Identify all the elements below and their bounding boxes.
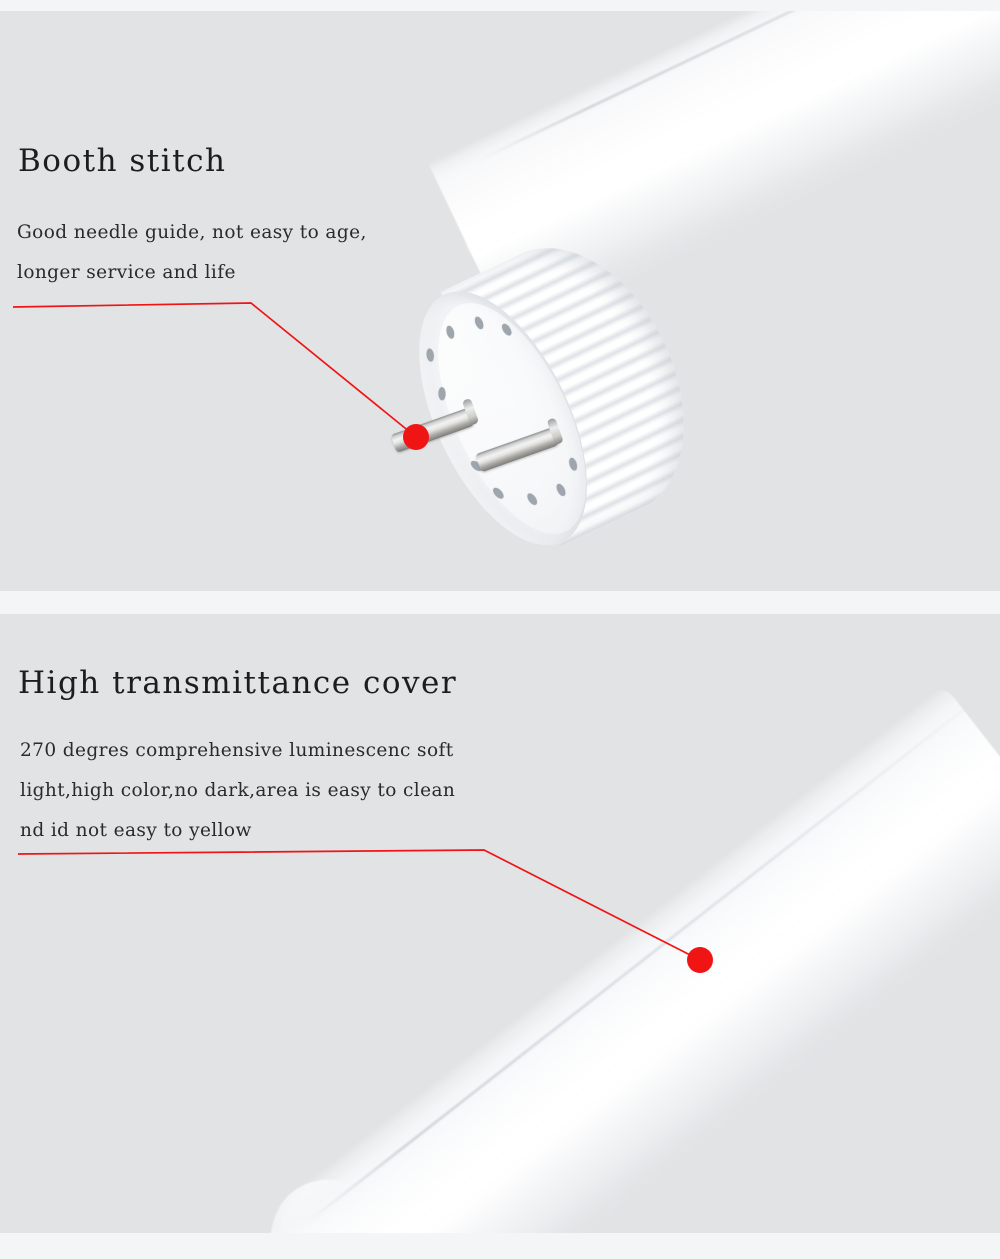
- top-separator-strip: [0, 0, 1000, 11]
- headline-booth-stitch: Booth stitch: [18, 143, 226, 179]
- body-line-cover-3: nd id not easy to yellow: [20, 820, 252, 841]
- callout-dot-high-transmittance: [687, 947, 713, 973]
- callout-dot-booth-stitch: [403, 424, 429, 450]
- panel-high-transmittance-cover: [0, 614, 1000, 1233]
- body-line-booth-stitch-2: longer service and life: [17, 262, 236, 283]
- panel-booth-stitch: [0, 11, 1000, 591]
- led-tube-end-cap: [376, 214, 725, 577]
- body-line-booth-stitch-1: Good needle guide, not easy to age,: [17, 222, 367, 243]
- body-line-cover-1: 270 degres comprehensive luminescenc sof…: [20, 740, 454, 761]
- bottom-separator-strip: [0, 1233, 1000, 1259]
- vent-hole: [426, 348, 435, 362]
- infographic-page: Booth stitch Good needle guide, not easy…: [0, 0, 1000, 1259]
- headline-high-transmittance-cover: High transmittance cover: [18, 665, 457, 701]
- body-line-cover-2: light,high color,no dark,area is easy to…: [20, 780, 455, 801]
- vent-hole: [438, 387, 445, 400]
- panel-divider-strip: [0, 591, 1000, 614]
- diffuser-tube-lower: [234, 684, 1000, 1233]
